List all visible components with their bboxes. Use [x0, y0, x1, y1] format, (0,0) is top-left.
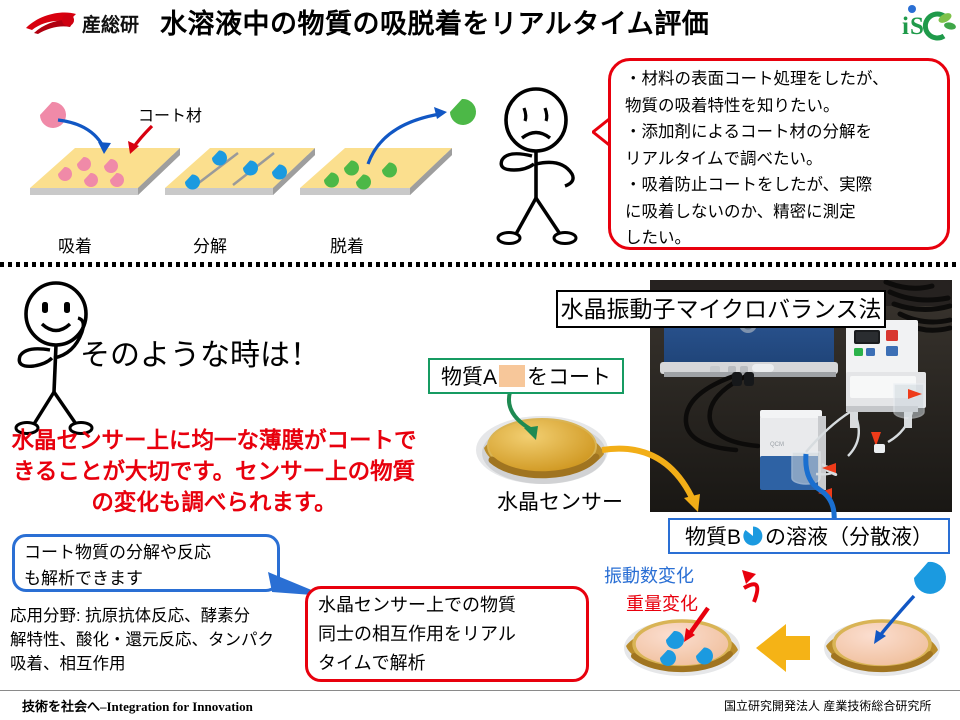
- solution-box-prefix: 物質B: [685, 521, 741, 551]
- sensor-disc-before: [824, 562, 946, 676]
- qcm-method-label-box: 水晶振動子マイクロバランス法: [556, 290, 886, 328]
- footer-tagline: 技術を社会へ–Integration for Innovation: [22, 696, 253, 715]
- concern-line: 物質の吸着特性を知りたい。: [625, 93, 937, 120]
- red-callout-text: 水晶センサー上での物質 同士の相互作用をリアル タイムで解析: [318, 591, 584, 678]
- svg-text:S: S: [910, 13, 924, 40]
- red-key-message: 水晶センサー上に均一な薄膜がコートで きることが大切です。センサー上の物質 の変…: [4, 425, 424, 518]
- footer-organization: 国立研究開発法人 産業技術総合研究所: [724, 697, 931, 714]
- isc-logo: i S: [898, 2, 956, 42]
- footer-divider: [0, 690, 960, 691]
- beaker: [894, 384, 924, 418]
- adsorption-decomposition-desorption-diagram: [0, 80, 500, 245]
- panel-desorption-graphic: [300, 99, 476, 195]
- blue-pacman-icon: [742, 525, 764, 547]
- slide-header: 産総研 水溶液中の物質の吸脱着をリアルタイム評価 i S: [0, 0, 960, 46]
- applications-line: 吸着、相互作用: [10, 652, 310, 676]
- blue-callout-text: コート物質の分解や反応 も解析できます: [24, 540, 274, 592]
- concern-line: リアルタイムで調べたい。: [625, 146, 937, 173]
- solution-box-suffix: の溶液（分散液）: [765, 521, 933, 551]
- red-message-line: 水晶センサー上に均一な薄膜がコートで: [4, 425, 424, 456]
- panel-decomposition-graphic: [165, 148, 315, 195]
- coat-box-suffix: をコート: [527, 361, 611, 391]
- concern-line: に吸着しないのか、精密に測定: [625, 199, 937, 226]
- slide-root: 産総研 水溶液中の物質の吸脱着をリアルタイム評価 i S: [0, 0, 960, 720]
- concern-line: ・材料の表面コート処理をしたが、: [625, 66, 937, 93]
- panel-label-decomposition: 分解: [155, 232, 265, 257]
- coat-substance-a-box: 物質A をコート: [428, 358, 624, 394]
- applications-text: 応用分野: 抗原抗体反応、酵素分 解特性、酸化・還元反応、タンパク 吸着、相互作…: [10, 604, 310, 676]
- coat-arrow-green: [496, 390, 566, 456]
- red-callout-box: 水晶センサー上での物質 同士の相互作用をリアル タイムで解析: [305, 586, 589, 682]
- panel-label-desorption: 脱着: [292, 232, 402, 257]
- red-message-line: の変化も調べられます。: [4, 487, 424, 518]
- red-callout-line: 同士の相互作用をリアル: [318, 620, 584, 649]
- coat-box-prefix: 物質A: [441, 361, 497, 391]
- sensor-interaction-diagram: [596, 556, 960, 688]
- applications-line: 解特性、酸化・還元反応、タンパク: [10, 628, 310, 652]
- substance-a-swatch: [499, 365, 525, 387]
- sensor-disc-after: [624, 608, 740, 676]
- page-title: 水溶液中の物質の吸脱着をリアルタイム評価: [160, 4, 860, 44]
- coat-material-label: コート材: [115, 102, 225, 126]
- concern-line: したい。: [625, 225, 937, 252]
- speech-bubble-concerns-text: ・材料の表面コート処理をしたが、 物質の吸着特性を知りたい。 ・添加剤によるコー…: [625, 66, 937, 252]
- svg-text:QCM: QCM: [770, 442, 784, 448]
- yellow-left-arrow: [756, 624, 810, 672]
- exclaim-text: そのような時は！: [80, 330, 410, 374]
- red-callout-line: タイムで解析: [318, 649, 584, 678]
- speech-bubble-concerns: ・材料の表面コート処理をしたが、 物質の吸着特性を知りたい。 ・添加剤によるコー…: [608, 58, 950, 250]
- sensor-to-instrument-arrow: [600, 432, 740, 524]
- section-divider: [0, 262, 960, 267]
- blue-callout-line: も解析できます: [24, 566, 274, 592]
- red-message-line: きることが大切です。センサー上の物質: [4, 456, 424, 487]
- applications-line: 応用分野: 抗原抗体反応、酵素分: [10, 604, 310, 628]
- red-callout-line: 水晶センサー上での物質: [318, 591, 584, 620]
- concern-line: ・吸着防止コートをしたが、実際: [625, 172, 937, 199]
- svg-text:産総研: 産総研: [82, 13, 139, 36]
- concern-line: ・添加剤によるコート材の分解を: [625, 119, 937, 146]
- blue-callout-line: コート物質の分解や反応: [24, 540, 274, 566]
- solution-pointer-line: [800, 452, 860, 524]
- aist-logo: 産総研: [24, 8, 148, 38]
- panel-label-adsorption: 吸着: [20, 232, 130, 257]
- blue-callout-box: コート物質の分解や反応 も解析できます: [12, 534, 280, 592]
- solution-substance-b-box: 物質B の溶液（分散液）: [668, 518, 950, 554]
- svg-text:i: i: [902, 13, 909, 40]
